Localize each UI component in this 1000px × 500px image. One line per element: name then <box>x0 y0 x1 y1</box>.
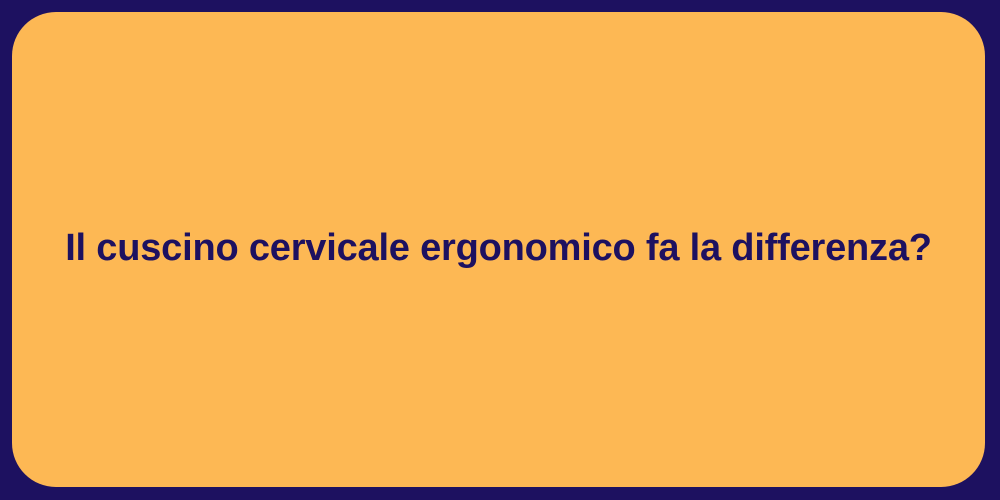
banner-frame: Il cuscino cervicale ergonomico fa la di… <box>0 0 1000 500</box>
headline-card: Il cuscino cervicale ergonomico fa la di… <box>12 12 985 487</box>
headline-container: Il cuscino cervicale ergonomico fa la di… <box>12 225 985 273</box>
headline-text: Il cuscino cervicale ergonomico fa la di… <box>65 225 932 273</box>
